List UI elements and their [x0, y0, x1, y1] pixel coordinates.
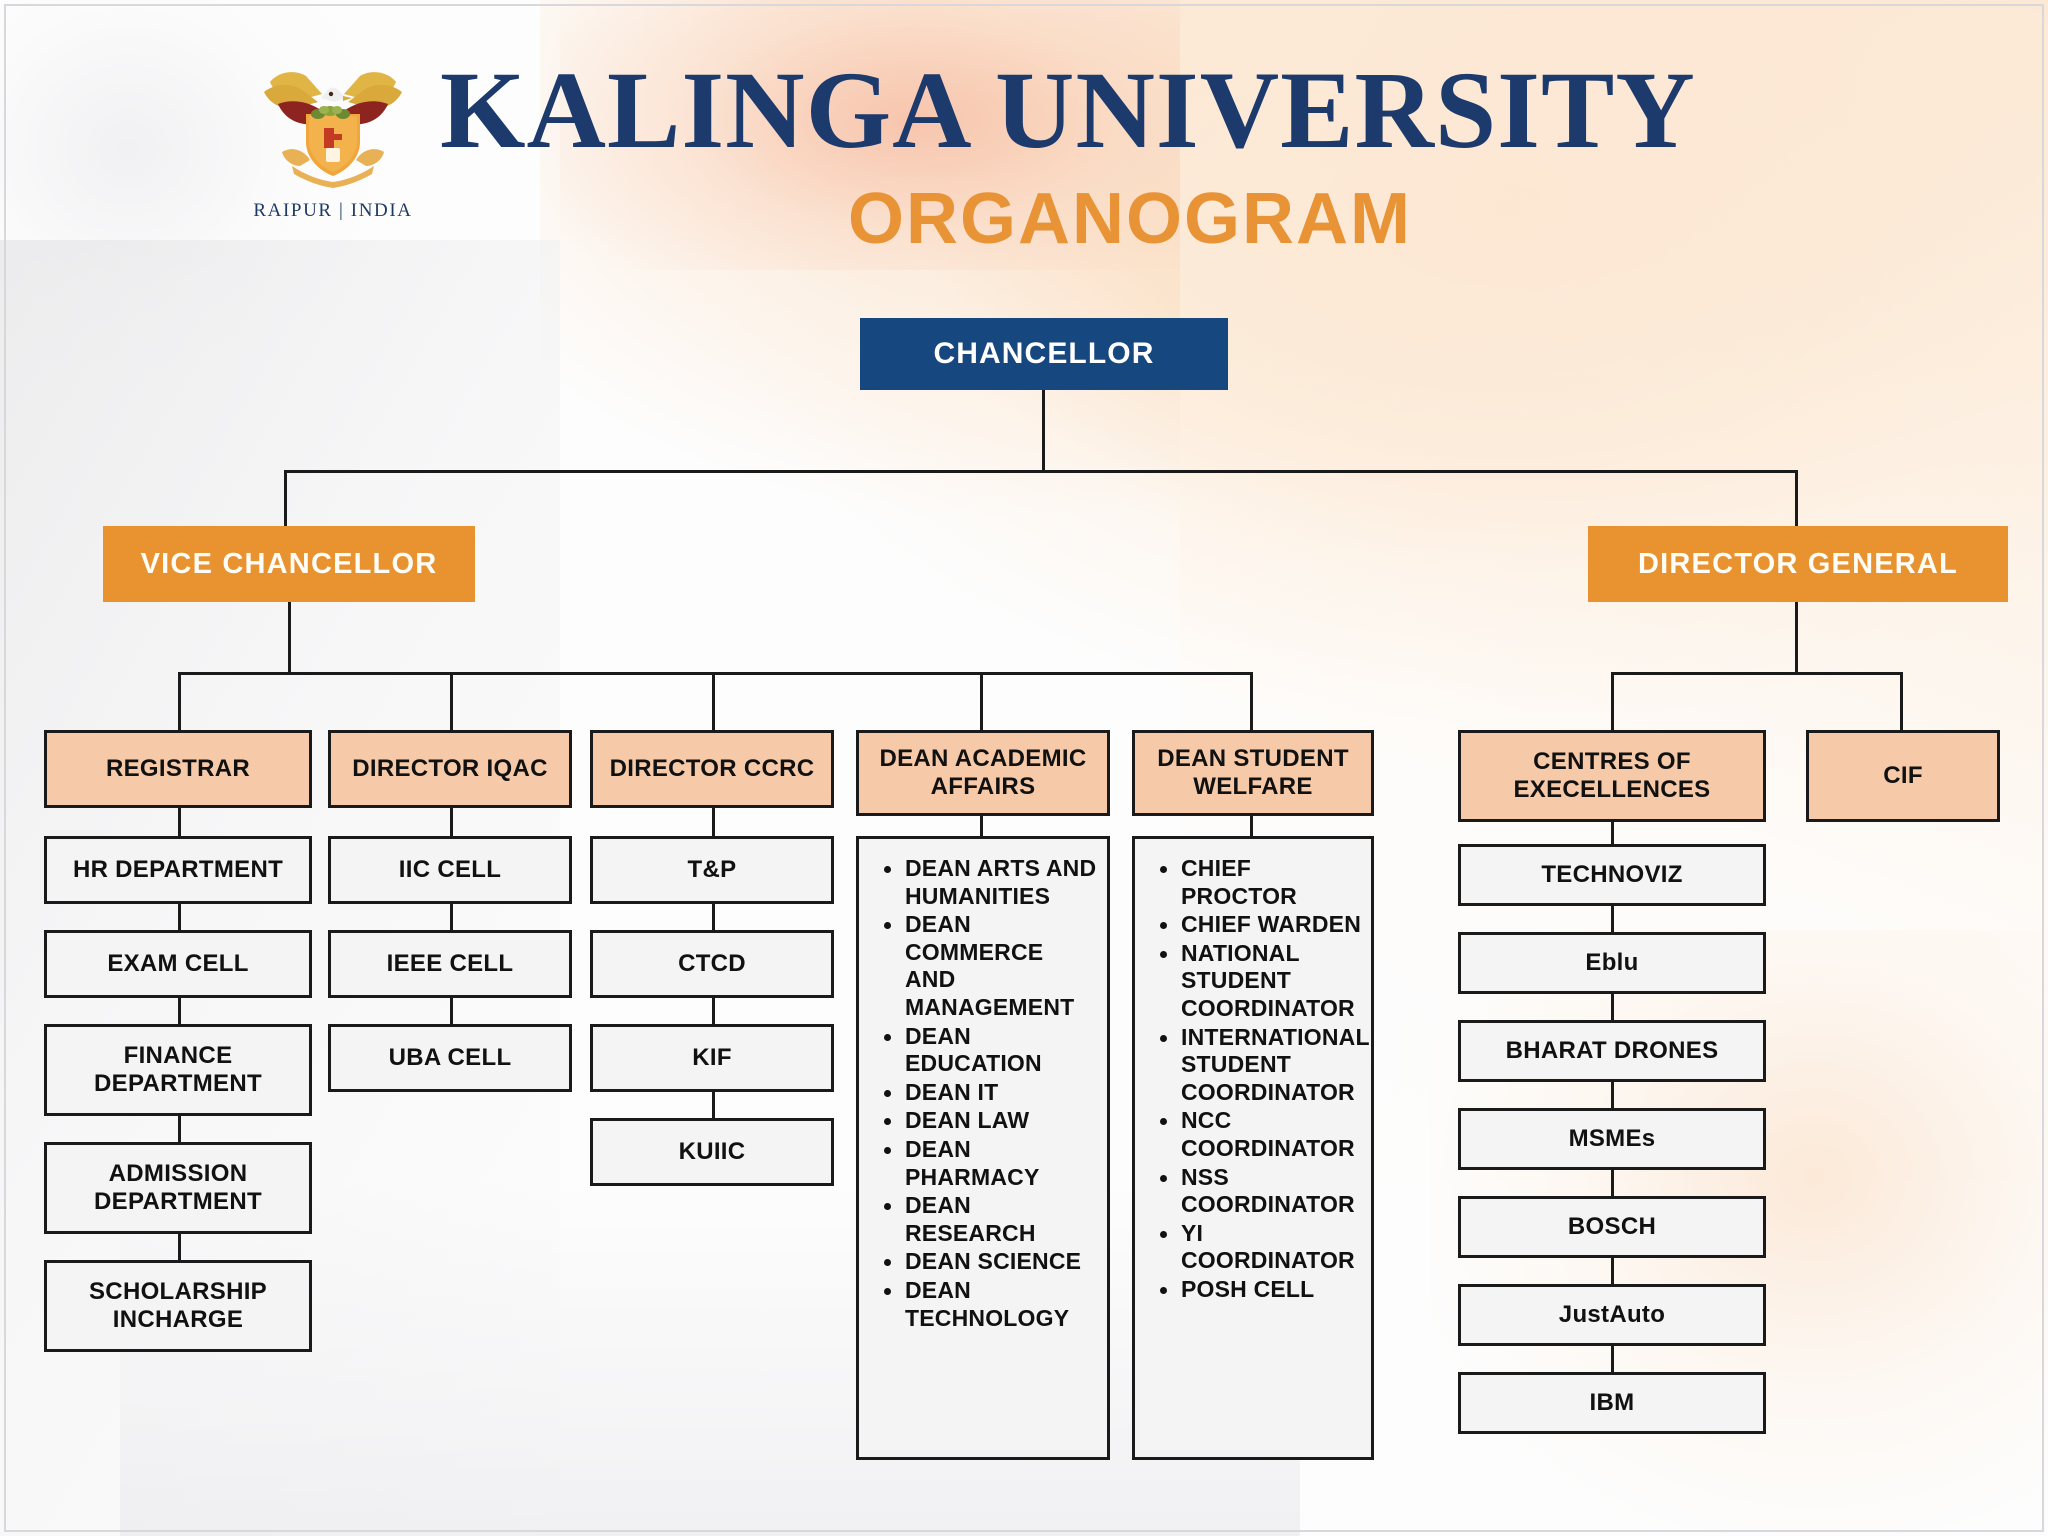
leaf-iqac-0[interactable]: IIC CELL [328, 836, 572, 904]
connector-coe-5 [1611, 1170, 1614, 1198]
connector-drop-centres [1611, 672, 1614, 732]
leaf-registrar-4-label: SCHOLARSHIP INCHARGE [47, 1278, 309, 1335]
connector-dg-bus [1611, 672, 1903, 675]
connector-chancellor-stem [1042, 390, 1045, 472]
leaf-coe-3-label: MSMEs [1569, 1125, 1656, 1153]
leaf-coe-4-label: BOSCH [1568, 1213, 1656, 1241]
leaf-coe-4[interactable]: BOSCH [1458, 1196, 1766, 1258]
node-cif-label: CIF [1883, 762, 1923, 790]
connector-drop-registrar [178, 672, 181, 732]
leaf-ccrc-2-label: KIF [692, 1044, 732, 1072]
connector-ccrc-3 [712, 998, 715, 1026]
node-director-general[interactable]: DIRECTOR GENERAL [1588, 526, 2008, 602]
leaf-ccrc-1[interactable]: CTCD [590, 930, 834, 998]
node-centres-of-excellence-label: CENTRES OF EXECELLENCES [1469, 748, 1755, 805]
node-dean-student-welfare[interactable]: DEAN STUDENT WELFARE [1132, 730, 1374, 816]
leaf-coe-3[interactable]: MSMEs [1458, 1108, 1766, 1170]
connector-coe-7 [1611, 1346, 1614, 1374]
connector-registrar-5 [178, 1234, 181, 1262]
connector-iqac-1 [450, 808, 453, 838]
list-dean-student-welfare: CHIEF PROCTOR CHIEF WARDEN NATIONAL STUD… [1147, 855, 1363, 1304]
node-centres-of-excellence[interactable]: CENTRES OF EXECELLENCES [1458, 730, 1766, 822]
leaf-coe-2-label: BHARAT DRONES [1506, 1037, 1719, 1065]
leaf-coe-1-label: Eblu [1585, 949, 1638, 977]
list-item[interactable]: NSS COORDINATOR [1147, 1164, 1363, 1219]
leaf-registrar-3-label: ADMISSION DEPARTMENT [47, 1160, 309, 1217]
node-director-iqac[interactable]: DIRECTOR IQAC [328, 730, 572, 808]
leaf-coe-6-label: IBM [1590, 1389, 1635, 1417]
connector-vc-bus [178, 672, 1253, 675]
eagle-emblem-icon [248, 48, 418, 198]
list-item[interactable]: DEAN ARTS AND HUMANITIES [871, 855, 1099, 910]
connector-coe-6 [1611, 1258, 1614, 1286]
connector-iqac-3 [450, 998, 453, 1026]
connector-top-bus [284, 470, 1798, 473]
leaf-iqac-1[interactable]: IEEE CELL [328, 930, 572, 998]
node-director-iqac-label: DIRECTOR IQAC [352, 755, 547, 783]
connector-drop-director-iqac [450, 672, 453, 732]
connector-registrar-4 [178, 1116, 181, 1144]
chart-title: ORGANOGRAM [440, 178, 1820, 260]
list-item[interactable]: INTERNATIONAL STUDENT COORDINATOR [1147, 1024, 1363, 1107]
leaf-coe-5[interactable]: JustAuto [1458, 1284, 1766, 1346]
node-dean-academic-affairs[interactable]: DEAN ACADEMIC AFFAIRS [856, 730, 1110, 816]
leaf-ccrc-3[interactable]: KUIIC [590, 1118, 834, 1186]
university-logo: RAIPUR | INDIA [243, 48, 423, 228]
leaf-registrar-0[interactable]: HR DEPARTMENT [44, 836, 312, 904]
leaf-registrar-1-label: EXAM CELL [107, 950, 248, 978]
header: RAIPUR | INDIA KALINGA UNIVERSITY ORGANO… [0, 28, 2048, 288]
panel-dean-academic-affairs: DEAN ARTS AND HUMANITIES DEAN COMMERCE A… [856, 836, 1110, 1460]
connector-coe-4 [1611, 1082, 1614, 1110]
connector-drop-dean-welfare [1250, 672, 1253, 732]
university-title: KALINGA UNIVERSITY [440, 54, 1840, 166]
leaf-iqac-0-label: IIC CELL [399, 856, 501, 884]
node-registrar-label: REGISTRAR [106, 755, 250, 783]
list-item[interactable]: DEAN COMMERCE AND MANAGEMENT [871, 911, 1099, 1021]
organogram-canvas: RAIPUR | INDIA KALINGA UNIVERSITY ORGANO… [0, 0, 2048, 1536]
connector-registrar-1 [178, 808, 181, 838]
list-item[interactable]: DEAN IT [871, 1079, 1099, 1107]
list-item[interactable]: YI COORDINATOR [1147, 1220, 1363, 1275]
node-director-general-label: DIRECTOR GENERAL [1638, 547, 1958, 581]
connector-coe-3 [1611, 994, 1614, 1022]
leaf-ccrc-2[interactable]: KIF [590, 1024, 834, 1092]
connector-dean-academic-list [980, 816, 983, 838]
list-item[interactable]: DEAN SCIENCE [871, 1248, 1099, 1276]
list-item[interactable]: DEAN PHARMACY [871, 1136, 1099, 1191]
leaf-registrar-1[interactable]: EXAM CELL [44, 930, 312, 998]
connector-iqac-2 [450, 904, 453, 932]
leaf-ccrc-3-label: KUIIC [679, 1138, 746, 1166]
list-item[interactable]: POSH CELL [1147, 1276, 1363, 1304]
list-item[interactable]: DEAN RESEARCH [871, 1192, 1099, 1247]
leaf-registrar-0-label: HR DEPARTMENT [73, 856, 283, 884]
node-cif[interactable]: CIF [1806, 730, 2000, 822]
leaf-iqac-2-label: UBA CELL [389, 1044, 512, 1072]
leaf-ccrc-1-label: CTCD [678, 950, 746, 978]
logo-location-label: RAIPUR | INDIA [243, 200, 423, 222]
list-item[interactable]: NATIONAL STUDENT COORDINATOR [1147, 940, 1363, 1023]
leaf-ccrc-0[interactable]: T&P [590, 836, 834, 904]
panel-dean-student-welfare: CHIEF PROCTOR CHIEF WARDEN NATIONAL STUD… [1132, 836, 1374, 1460]
leaf-coe-0[interactable]: TECHNOVIZ [1458, 844, 1766, 906]
leaf-iqac-1-label: IEEE CELL [387, 950, 514, 978]
list-item[interactable]: CHIEF WARDEN [1147, 911, 1363, 939]
connector-ccrc-2 [712, 904, 715, 932]
leaf-coe-6[interactable]: IBM [1458, 1372, 1766, 1434]
leaf-registrar-3[interactable]: ADMISSION DEPARTMENT [44, 1142, 312, 1234]
leaf-ccrc-0-label: T&P [688, 856, 737, 884]
leaf-coe-2[interactable]: BHARAT DRONES [1458, 1020, 1766, 1082]
leaf-coe-1[interactable]: Eblu [1458, 932, 1766, 994]
list-dean-academic-affairs: DEAN ARTS AND HUMANITIES DEAN COMMERCE A… [871, 855, 1099, 1332]
node-director-ccrc[interactable]: DIRECTOR CCRC [590, 730, 834, 808]
node-vice-chancellor[interactable]: VICE CHANCELLOR [103, 526, 475, 602]
leaf-registrar-4[interactable]: SCHOLARSHIP INCHARGE [44, 1260, 312, 1352]
connector-drop-dean-academic [980, 672, 983, 732]
connector-ccrc-1 [712, 808, 715, 838]
connector-drop-director-ccrc [712, 672, 715, 732]
connector-dg-stem [1795, 602, 1798, 674]
connector-registrar-2 [178, 904, 181, 932]
leaf-iqac-2[interactable]: UBA CELL [328, 1024, 572, 1092]
node-director-ccrc-label: DIRECTOR CCRC [610, 755, 815, 783]
connector-ccrc-4 [712, 1092, 715, 1120]
list-item[interactable]: CHIEF PROCTOR [1147, 855, 1363, 910]
list-item[interactable]: DEAN TECHNOLOGY [871, 1277, 1099, 1332]
leaf-registrar-2[interactable]: FINANCE DEPARTMENT [44, 1024, 312, 1116]
connector-registrar-3 [178, 998, 181, 1026]
node-chancellor[interactable]: CHANCELLOR [860, 318, 1228, 390]
node-vice-chancellor-label: VICE CHANCELLOR [141, 547, 438, 581]
node-dean-academic-affairs-label: DEAN ACADEMIC AFFAIRS [867, 745, 1099, 802]
node-registrar[interactable]: REGISTRAR [44, 730, 312, 808]
node-dean-student-welfare-label: DEAN STUDENT WELFARE [1143, 745, 1363, 802]
connector-vc-stem [288, 602, 291, 674]
leaf-coe-0-label: TECHNOVIZ [1541, 861, 1682, 889]
connector-coe-2 [1611, 906, 1614, 934]
connector-coe-1 [1611, 822, 1614, 846]
list-item[interactable]: DEAN LAW [871, 1107, 1099, 1135]
connector-dean-welfare-list [1250, 816, 1253, 838]
node-chancellor-label: CHANCELLOR [934, 336, 1155, 371]
connector-drop-cif [1900, 672, 1903, 732]
leaf-coe-5-label: JustAuto [1559, 1301, 1665, 1329]
list-item[interactable]: NCC COORDINATOR [1147, 1107, 1363, 1162]
list-item[interactable]: DEAN EDUCATION [871, 1023, 1099, 1078]
leaf-registrar-2-label: FINANCE DEPARTMENT [47, 1042, 309, 1099]
